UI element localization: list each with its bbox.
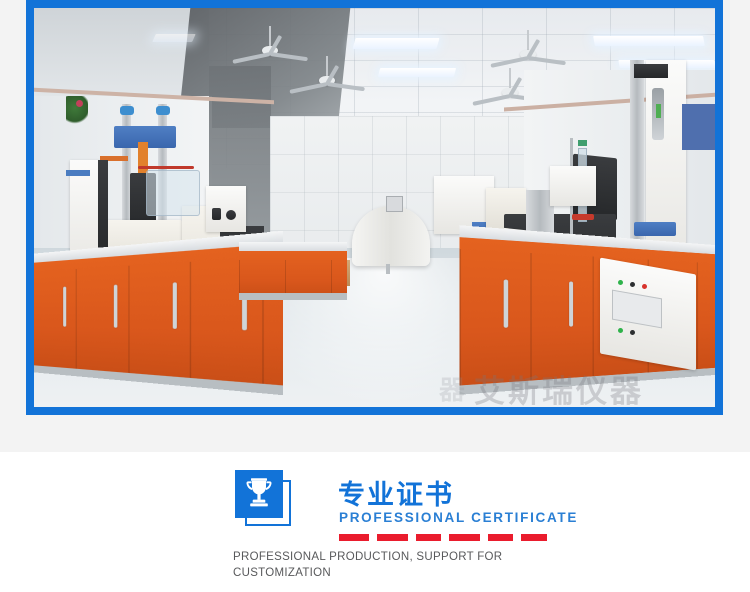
certificate-title-cn: 专业证书 — [338, 473, 454, 512]
cabinet-handle[interactable] — [114, 285, 118, 328]
right-blue-backdrop — [682, 104, 715, 150]
tester-knob-left — [120, 106, 134, 115]
page-root: 器 艾斯瑞仪器 — [0, 0, 750, 592]
machine-button-green — [618, 280, 623, 285]
microscope-knob — [226, 210, 236, 220]
lab-photo: 器 艾斯瑞仪器 — [34, 8, 715, 407]
dash-segment — [339, 534, 369, 541]
tester-knob-right — [156, 106, 170, 115]
machine-button-black — [630, 330, 635, 335]
microscope-objective — [212, 208, 221, 220]
certificate-section: 专业证书 PROFESSIONAL CERTIFICATE PROFESSION… — [0, 452, 750, 592]
dash-segment — [449, 534, 479, 541]
dash-segment — [521, 534, 547, 541]
certificate-subtitle: PROFESSIONAL PRODUCTION, SUPPORT FOR CUS… — [233, 549, 563, 581]
trophy-icon — [233, 468, 305, 540]
right-frame-indicator — [656, 104, 661, 118]
plant-flower — [76, 100, 83, 107]
burette-cap-green — [578, 140, 587, 146]
ceiling-led-light — [378, 68, 456, 77]
cabinet-handle[interactable] — [569, 281, 573, 326]
lab-photo-frame: 器 艾斯瑞仪器 — [26, 0, 723, 415]
burette-clamp-red-2 — [572, 214, 594, 220]
ceiling-led-light — [152, 34, 196, 42]
machine-button-green — [618, 328, 623, 333]
lab-scene: 器 艾斯瑞仪器 — [34, 8, 715, 407]
cabinet-middle — [239, 242, 347, 300]
tank-gauge — [386, 196, 403, 212]
red-dash-divider — [339, 534, 547, 541]
glass-chamber — [146, 170, 200, 216]
ceiling-led-light — [352, 38, 439, 49]
dash-segment — [488, 534, 514, 541]
right-frame-head — [634, 64, 668, 78]
ceiling-led-light — [593, 36, 705, 46]
trophy-icon-filled-square — [235, 470, 283, 518]
tank-stand — [386, 264, 390, 274]
machine-button-black — [630, 282, 635, 287]
machine-button-red — [642, 284, 647, 289]
watermark-partial: 器 — [439, 370, 465, 407]
cabinet-handle[interactable] — [63, 287, 66, 327]
dash-segment — [416, 534, 442, 541]
dash-segment — [377, 534, 407, 541]
red-tubing — [138, 166, 194, 169]
cabinet-handle[interactable] — [504, 279, 509, 327]
cabinet-handle[interactable] — [173, 282, 177, 329]
rear-bench-unit-2 — [550, 166, 596, 206]
right-frame-base-blue — [634, 222, 676, 236]
left-machine-blue-strip — [66, 170, 90, 176]
certificate-title-en: PROFESSIONAL CERTIFICATE — [339, 510, 578, 525]
